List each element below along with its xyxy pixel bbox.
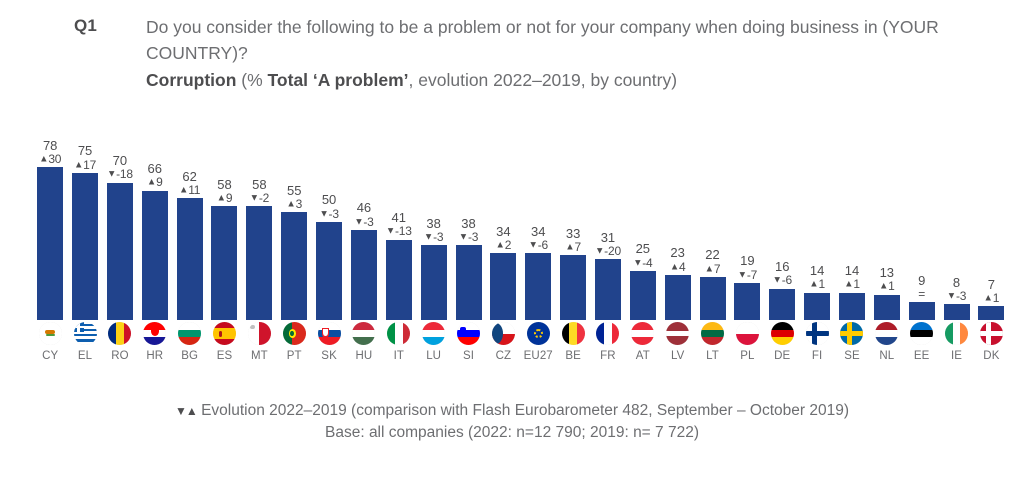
bar-label-group: 58▲9 — [217, 178, 233, 204]
bar[interactable] — [734, 283, 760, 320]
bar-value: 23 — [670, 246, 686, 259]
bar-column[interactable]: 19▼-7 — [733, 104, 761, 320]
bar-label-group: 25▼-4 — [633, 242, 652, 268]
bar-value: 41 — [386, 211, 412, 224]
flag-icon-ee — [910, 322, 933, 345]
bar[interactable] — [595, 259, 621, 320]
bar-value: 50 — [319, 193, 338, 206]
bar-evolution: ▲1 — [844, 278, 860, 290]
flag-icon-pl — [736, 322, 759, 345]
axis-column: EE — [907, 322, 935, 378]
legend-note: ▼▲ Evolution 2022–2019 (comparison with … — [0, 400, 1024, 422]
bar[interactable] — [281, 212, 307, 320]
axis-column: RO — [106, 322, 134, 378]
evolution-arrow-icon: ▲ — [217, 193, 226, 204]
bar-label-group: 41▼-13 — [386, 211, 412, 237]
bar-column[interactable]: 16▼-6 — [768, 104, 796, 320]
axis-column: NL — [873, 322, 901, 378]
bar-evolution: ▼-13 — [386, 225, 412, 237]
axis-column: SE — [838, 322, 866, 378]
country-code-label: AT — [636, 350, 650, 362]
bar-evolution: ▲9 — [147, 176, 163, 188]
country-code-label: MT — [251, 350, 268, 362]
axis-column: EL — [71, 322, 99, 378]
bar-label-group: 62▲11 — [179, 170, 200, 196]
bar[interactable] — [107, 183, 133, 320]
country-code-label: HU — [356, 350, 373, 362]
bar-value: 16 — [773, 260, 792, 273]
bar-value: 31 — [595, 231, 621, 244]
axis-column: LT — [698, 322, 726, 378]
evolution-arrow-icon: ▼ — [738, 269, 747, 280]
axis-column: BE — [559, 322, 587, 378]
country-code-label: EE — [914, 350, 930, 362]
bar-column[interactable]: 31▼-20 — [594, 104, 622, 320]
evolution-arrow-icon: ▲ — [74, 159, 83, 170]
bar-column[interactable]: 50▼-3 — [315, 104, 343, 320]
country-code-label: BG — [181, 350, 198, 362]
subtitle-topic: Corruption — [146, 70, 236, 90]
bar[interactable] — [246, 206, 272, 320]
bar-column[interactable]: 14▲1 — [803, 104, 831, 320]
question-text: Do you consider the following to be a pr… — [146, 14, 1008, 93]
country-code-label: EU27 — [524, 350, 553, 362]
country-code-label: IT — [394, 350, 404, 362]
country-code-label: DE — [774, 350, 790, 362]
bar-column[interactable]: 22▲7 — [698, 104, 726, 320]
bar-column[interactable]: 46▼-3 — [350, 104, 378, 320]
axis-column: SI — [454, 322, 482, 378]
bar-label-group: 9= — [918, 274, 925, 300]
base-note: Base: all companies (2022: n=12 790; 201… — [0, 422, 1024, 444]
bar[interactable] — [72, 173, 98, 320]
country-code-label: ES — [217, 350, 233, 362]
flag-icon-es — [213, 322, 236, 345]
evolution-arrows-icon: ▼▲ — [175, 404, 197, 418]
evolution-arrow-icon: ▼ — [319, 208, 328, 219]
bar-column[interactable]: 55▲3 — [280, 104, 308, 320]
country-code-label: SE — [844, 350, 860, 362]
evolution-arrow-icon: ▲ — [809, 279, 818, 290]
bar-chart: 78▲3075▲1770▼-1866▲962▲1158▲958▼-255▲350… — [0, 104, 1024, 394]
bar-label-group: 70▼-18 — [107, 154, 133, 180]
bar-label-group: 14▲1 — [844, 264, 860, 290]
bar[interactable] — [978, 306, 1004, 320]
axis-column: CY — [36, 322, 64, 378]
bar-value: 78 — [39, 139, 61, 152]
flag-icon-dk — [980, 322, 1003, 345]
bar-value: 33 — [565, 227, 581, 240]
bar[interactable] — [874, 295, 900, 321]
bar-evolution: ▼-7 — [738, 269, 757, 281]
bar-evolution: ▲17 — [74, 159, 96, 171]
axis-column: FR — [594, 322, 622, 378]
bar-column[interactable]: 70▼-18 — [106, 104, 134, 320]
flag-icon-lu — [422, 322, 445, 345]
evolution-arrow-icon: ▼ — [250, 193, 259, 204]
flag-icon-at — [631, 322, 654, 345]
bar-column[interactable]: 66▲9 — [141, 104, 169, 320]
bar-value: 9 — [918, 274, 925, 287]
bar-evolution: ▲7 — [565, 241, 581, 253]
bar[interactable] — [177, 198, 203, 320]
bar-label-group: 16▼-6 — [773, 260, 792, 286]
bar-label-group: 34▼-6 — [528, 225, 547, 251]
bar[interactable] — [665, 275, 691, 320]
evolution-arrow-icon: ▼ — [459, 232, 468, 243]
bar-label-group: 23▲4 — [670, 246, 686, 272]
flag-icon-hr — [143, 322, 166, 345]
bar-evolution: ▼-18 — [107, 168, 133, 180]
bar-column[interactable]: 38▼-3 — [454, 104, 482, 320]
country-code-label: LT — [706, 350, 719, 362]
bar-value: 7 — [984, 278, 1000, 291]
axis-column: FI — [803, 322, 831, 378]
bar-evolution: ▼-6 — [773, 274, 792, 286]
bar-evolution: ▲3 — [286, 198, 302, 210]
bar-evolution: ▲1 — [984, 292, 1000, 304]
bar-value: 70 — [107, 154, 133, 167]
flag-icon-si — [457, 322, 480, 345]
bar[interactable] — [944, 304, 970, 320]
evolution-arrow-icon: ▲ — [147, 177, 156, 188]
bar-evolution: ▼-3 — [947, 290, 966, 302]
bar-column[interactable]: 75▲17 — [71, 104, 99, 320]
question-subtitle: Corruption (% Total ‘A problem’, evoluti… — [146, 67, 1008, 93]
bar-label-group: 8▼-3 — [947, 276, 966, 302]
bar-evolution: ▼-3 — [424, 231, 443, 243]
bar-label-group: 7▲1 — [984, 278, 1000, 304]
axis-column: EU27 — [524, 322, 552, 378]
bar-column[interactable]: 62▲11 — [175, 104, 203, 320]
axis-column: LU — [419, 322, 447, 378]
evolution-arrow-icon: ▼ — [773, 275, 782, 286]
bar-value: 22 — [705, 248, 721, 261]
bar-evolution: ▼-6 — [528, 239, 547, 251]
bar[interactable] — [142, 191, 168, 320]
country-code-label: NL — [879, 350, 894, 362]
subtitle-pre: (% — [236, 70, 267, 90]
country-code-label: HR — [146, 350, 163, 362]
bar-label-group: 46▼-3 — [354, 201, 373, 227]
legend-note-text: Evolution 2022–2019 (comparison with Fla… — [197, 402, 849, 419]
bar-column[interactable]: 14▲1 — [838, 104, 866, 320]
bar-evolution: ▲7 — [705, 263, 721, 275]
evolution-arrow-icon: ▼ — [947, 291, 956, 302]
bar-column[interactable]: 34▼-6 — [524, 104, 552, 320]
bar[interactable] — [560, 255, 586, 320]
bar-label-group: 55▲3 — [286, 184, 302, 210]
flag-icon-nl — [875, 322, 898, 345]
evolution-arrow-icon: ▲ — [565, 242, 574, 253]
question-header: Q1 Do you consider the following to be a… — [0, 0, 1024, 104]
bar[interactable] — [490, 253, 516, 320]
axis-column: HR — [141, 322, 169, 378]
flag-icon-fi — [806, 322, 829, 345]
country-code-label: PL — [740, 350, 754, 362]
bar-value: 58 — [217, 178, 233, 191]
bar-column[interactable]: 9= — [907, 104, 935, 320]
category-axis: CYELROHRBGESMTPTSKHUITLUSICZEU27BEFRATLV… — [36, 322, 1006, 378]
bar-evolution: ▲11 — [179, 184, 200, 196]
evolution-arrow-icon: ▲ — [705, 263, 714, 274]
axis-column: PL — [733, 322, 761, 378]
axis-column: DK — [977, 322, 1005, 378]
bar[interactable] — [456, 245, 482, 320]
axis-column: ES — [210, 322, 238, 378]
axis-column: MT — [245, 322, 273, 378]
country-code-label: DK — [983, 350, 999, 362]
bar[interactable] — [525, 253, 551, 320]
bar-evolution: ▲30 — [39, 153, 61, 165]
bar-evolution: ▼-3 — [354, 216, 373, 228]
bar-column[interactable]: 58▼-2 — [245, 104, 273, 320]
question-code: Q1 — [74, 16, 97, 36]
flag-icon-bg — [178, 322, 201, 345]
bar[interactable] — [769, 289, 795, 320]
bar-value: 75 — [74, 144, 96, 157]
bar-label-group: 75▲17 — [74, 144, 96, 170]
evolution-arrow-icon: ▼ — [595, 245, 604, 256]
country-code-label: RO — [111, 350, 128, 362]
bar-value: 34 — [496, 225, 512, 238]
flag-icon-cz — [492, 322, 515, 345]
bar-value: 8 — [947, 276, 966, 289]
evolution-arrow-icon: ▼ — [107, 169, 116, 180]
bar-evolution: ▲1 — [879, 280, 895, 292]
bar[interactable] — [386, 240, 412, 320]
bar-evolution: ▼-4 — [633, 257, 652, 269]
bar-column[interactable]: 38▼-3 — [419, 104, 447, 320]
evolution-arrow-icon: ▲ — [496, 240, 505, 251]
bar-column[interactable]: 13▲1 — [873, 104, 901, 320]
axis-column: PT — [280, 322, 308, 378]
axis-column: HU — [350, 322, 378, 378]
flag-icon-eu27 — [527, 322, 550, 345]
flag-icon-el — [74, 322, 97, 345]
bar-evolution: ▼-20 — [595, 245, 621, 257]
bar[interactable] — [351, 230, 377, 320]
country-code-label: PT — [287, 350, 302, 362]
bar[interactable] — [37, 167, 63, 320]
bar-value: 38 — [459, 217, 478, 230]
bar-label-group: 78▲30 — [39, 139, 61, 165]
bar-label-group: 31▼-20 — [595, 231, 621, 257]
flag-icon-lv — [666, 322, 689, 345]
bar-value: 25 — [633, 242, 652, 255]
evolution-arrow-icon: ▼ — [424, 232, 433, 243]
flag-icon-be — [562, 322, 585, 345]
bar-evolution: ▲1 — [809, 278, 825, 290]
evolution-arrow-icon: ▲ — [39, 153, 48, 164]
bar-label-group: 19▼-7 — [738, 254, 757, 280]
bar-column[interactable]: 7▲1 — [977, 104, 1005, 320]
evolution-arrow-icon: ▲ — [879, 281, 888, 292]
question-line-1: Do you consider the following to be a pr… — [146, 17, 859, 37]
axis-column: SK — [315, 322, 343, 378]
country-code-label: FI — [812, 350, 822, 362]
country-code-label: SK — [321, 350, 337, 362]
bar-evolution: ▼-3 — [459, 231, 478, 243]
evolution-arrow-icon: ▼ — [633, 257, 642, 268]
evolution-arrow-icon: ▲ — [844, 279, 853, 290]
axis-column: IE — [942, 322, 970, 378]
bar-label-group: 58▼-2 — [250, 178, 269, 204]
axis-column: LV — [663, 322, 691, 378]
bar[interactable] — [421, 245, 447, 320]
bar-column[interactable]: 58▲9 — [210, 104, 238, 320]
bar-label-group: 50▼-3 — [319, 193, 338, 219]
axis-column: BG — [175, 322, 203, 378]
country-code-label: IE — [951, 350, 962, 362]
flag-icon-ro — [108, 322, 131, 345]
axis-column: DE — [768, 322, 796, 378]
bar-evolution: ▲4 — [670, 261, 686, 273]
country-code-label: LV — [671, 350, 684, 362]
bar-column[interactable]: 33▲7 — [559, 104, 587, 320]
axis-column: AT — [629, 322, 657, 378]
bar-value: 13 — [879, 266, 895, 279]
flag-icon-cy — [39, 322, 62, 345]
subtitle-post: , evolution 2022–2019, by country) — [409, 70, 678, 90]
flag-icon-fr — [596, 322, 619, 345]
bar-label-group: 38▼-3 — [424, 217, 443, 243]
country-code-label: LU — [426, 350, 441, 362]
bar[interactable] — [839, 293, 865, 320]
bar[interactable] — [316, 222, 342, 320]
evolution-arrow-icon: ▲ — [670, 261, 679, 272]
axis-column: IT — [385, 322, 413, 378]
flag-icon-it — [387, 322, 410, 345]
bar[interactable] — [804, 293, 830, 320]
bar-label-group: 66▲9 — [147, 162, 163, 188]
flag-icon-mt — [248, 322, 271, 345]
country-code-label: BE — [565, 350, 581, 362]
bar[interactable] — [909, 302, 935, 320]
flag-icon-lt — [701, 322, 724, 345]
chart-footnotes: ▼▲ Evolution 2022–2019 (comparison with … — [0, 400, 1024, 444]
bar[interactable] — [700, 277, 726, 320]
bar-value: 46 — [354, 201, 373, 214]
bar-label-group: 22▲7 — [705, 248, 721, 274]
bar-label-group: 13▲1 — [879, 266, 895, 292]
evolution-arrow-icon: ▼ — [528, 240, 537, 251]
bar[interactable] — [211, 206, 237, 320]
evolution-arrow-icon: ▼ — [354, 216, 363, 227]
bar-value: 55 — [286, 184, 302, 197]
plot-area: 78▲3075▲1770▼-1866▲962▲1158▲958▼-255▲350… — [36, 104, 1006, 320]
flag-icon-pt — [283, 322, 306, 345]
bar-evolution: ▲2 — [496, 239, 512, 251]
country-code-label: CY — [42, 350, 58, 362]
bar-column[interactable]: 23▲4 — [663, 104, 691, 320]
evolution-arrow-icon: ▲ — [179, 185, 188, 196]
bar-label-group: 34▲2 — [496, 225, 512, 251]
bar-value: 19 — [738, 254, 757, 267]
country-code-label: CZ — [496, 350, 512, 362]
bar-value: 14 — [809, 264, 825, 277]
evolution-arrow-icon: ▼ — [386, 226, 395, 237]
bar-value: 34 — [528, 225, 547, 238]
evolution-arrow-icon: ▲ — [286, 198, 295, 209]
bar-column[interactable]: 34▲2 — [489, 104, 517, 320]
bar-value: 14 — [844, 264, 860, 277]
bar-column[interactable]: 41▼-13 — [385, 104, 413, 320]
country-code-label: EL — [78, 350, 92, 362]
axis-column: CZ — [489, 322, 517, 378]
bar-column[interactable]: 78▲30 — [36, 104, 64, 320]
flag-icon-de — [771, 322, 794, 345]
flag-icon-ie — [945, 322, 968, 345]
bar-value: 62 — [179, 170, 200, 183]
bar-evolution: ▼-2 — [250, 192, 269, 204]
bar-evolution: = — [918, 288, 925, 300]
subtitle-bold: Total ‘A problem’ — [268, 70, 409, 90]
flag-icon-sk — [318, 322, 341, 345]
bar-value: 38 — [424, 217, 443, 230]
bar-label-group: 33▲7 — [565, 227, 581, 253]
bar-column[interactable]: 8▼-3 — [942, 104, 970, 320]
bar-label-group: 14▲1 — [809, 264, 825, 290]
flag-icon-se — [840, 322, 863, 345]
bar-value: 58 — [250, 178, 269, 191]
country-code-label: SI — [463, 350, 474, 362]
flag-icon-hu — [352, 322, 375, 345]
bar-value: 66 — [147, 162, 163, 175]
bar-evolution: ▲9 — [217, 192, 233, 204]
bar-column[interactable]: 25▼-4 — [629, 104, 657, 320]
country-code-label: FR — [600, 350, 616, 362]
evolution-arrow-icon: ▲ — [984, 293, 993, 304]
bar[interactable] — [630, 271, 656, 320]
bar-label-group: 38▼-3 — [459, 217, 478, 243]
bar-evolution: ▼-3 — [319, 208, 338, 220]
